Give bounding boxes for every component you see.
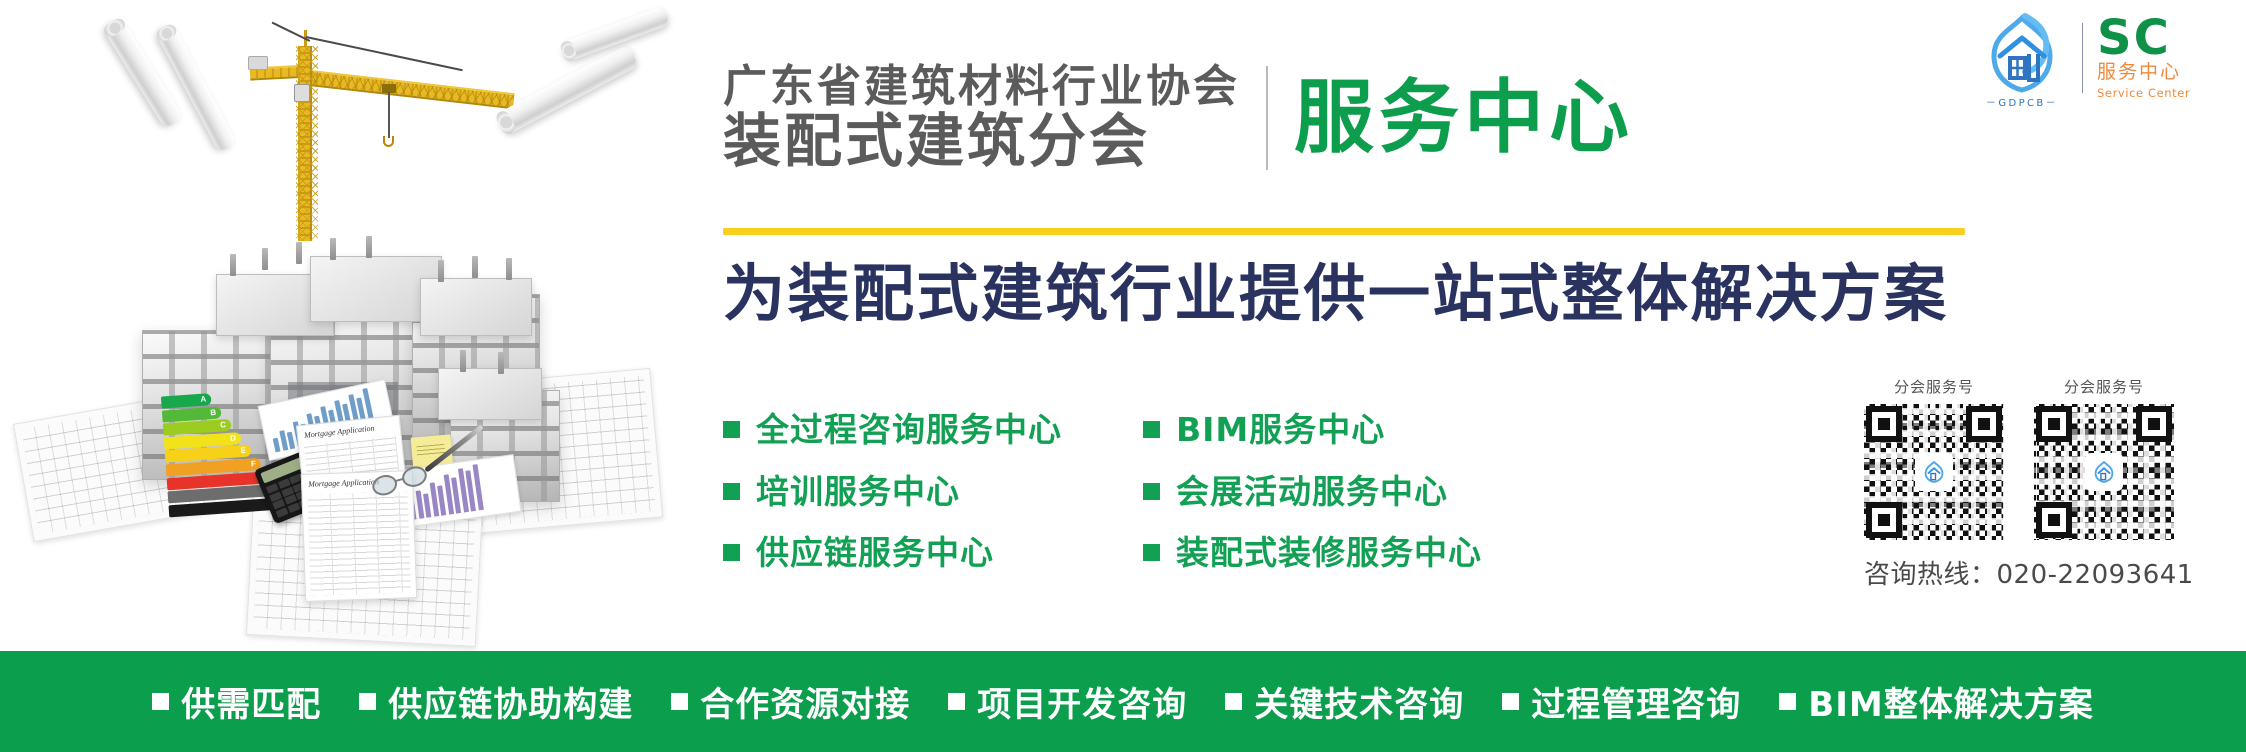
square-bullet-icon (948, 693, 965, 710)
sc-service-center-logo: －GDPCB－ SC 服务中心 Service Center (1976, 8, 2228, 108)
rebar-column (460, 350, 466, 372)
service-center-heading: 服务中心 (1294, 78, 1634, 158)
crane-mast (298, 46, 312, 241)
footer-item-7[interactable]: BIM整体解决方案 (1779, 677, 2093, 726)
crane-jib (309, 70, 514, 109)
qr-code-image[interactable] (2034, 404, 2174, 540)
square-bullet-icon (671, 693, 688, 710)
construction-illustration: A B C D E F G H I Mortg (0, 0, 700, 660)
gdpcb-caption: －GDPCB－ (1976, 94, 2068, 109)
header-block: 广东省建筑材料行业协会 装配式建筑分会 服务中心 (723, 40, 1973, 195)
association-line-2: 装配式建筑分会 (723, 111, 1240, 172)
service-item-4[interactable]: 会展活动服务中心 (1143, 472, 1563, 512)
square-bullet-icon (359, 693, 376, 710)
header-vertical-divider (1266, 66, 1268, 170)
qr-finder-pattern (1866, 406, 1902, 442)
qr-finder-pattern (1966, 406, 2002, 442)
qr-caption: 分会服务号 (1864, 376, 2004, 397)
document-title: Mortgage Application (304, 424, 375, 440)
document-title: Mortgage Application (308, 477, 379, 488)
tagline: 为装配式建筑行业提供一站式整体解决方案 (723, 258, 2023, 329)
square-bullet-icon (152, 693, 169, 710)
footer-item-label: 项目开发咨询 (977, 677, 1187, 726)
footer-item-2[interactable]: 供应链协助构建 (359, 677, 633, 726)
footer-item-label: 关键技术咨询 (1254, 677, 1464, 726)
service-item-2[interactable]: BIM服务中心 (1143, 410, 1563, 450)
hotline-text: 咨询热线：020-22093641 (1864, 554, 2234, 591)
square-bullet-icon (1143, 421, 1160, 438)
qr-finder-pattern (2136, 406, 2172, 442)
tower-crane (232, 28, 562, 248)
square-bullet-icon (723, 421, 740, 438)
qr-item-1: 分会服务号 (1864, 376, 2004, 540)
logo-en-label: Service Center (2097, 86, 2190, 100)
association-name-block: 广东省建筑材料行业协会 装配式建筑分会 (723, 63, 1240, 171)
crane-tie-cable (306, 36, 463, 71)
service-item-label: 全过程咨询服务中心 (756, 410, 1062, 450)
footer-item-label: 合作资源对接 (700, 677, 910, 726)
qr-row: 分会服务号 分会服务号 (1864, 376, 2234, 540)
energy-bar: A (161, 393, 212, 408)
footer-item-1[interactable]: 供需匹配 (152, 677, 321, 726)
square-bullet-icon (1143, 483, 1160, 500)
gold-divider-rule (723, 228, 1965, 235)
footer-item-label: 过程管理咨询 (1531, 677, 1741, 726)
rebar-column (506, 258, 512, 280)
footer-item-5[interactable]: 关键技术咨询 (1225, 677, 1464, 726)
document-form-rows (308, 491, 411, 595)
square-bullet-icon (723, 483, 740, 500)
footer-services-bar: 供需匹配 供应链协助构建 合作资源对接 项目开发咨询 关键技术咨询 过程管理咨询… (0, 651, 2246, 752)
service-item-1[interactable]: 全过程咨询服务中心 (723, 410, 1143, 450)
logo-text-block: SC 服务中心 Service Center (2097, 16, 2190, 100)
crane-hoist-line (388, 92, 390, 138)
qr-finder-pattern (1866, 502, 1902, 538)
service-item-5[interactable]: 供应链服务中心 (723, 533, 1143, 573)
qr-finder-pattern (2036, 406, 2072, 442)
square-bullet-icon (1143, 544, 1160, 561)
service-item-label: 培训服务中心 (756, 472, 960, 512)
service-item-6[interactable]: 装配式装修服务中心 (1143, 533, 1563, 573)
qr-center-logo-icon (1917, 455, 1951, 489)
footer-item-label: 供应链协助构建 (388, 677, 633, 726)
rebar-column (438, 260, 444, 282)
roof-slab (420, 278, 532, 336)
logo-cn-label: 服务中心 (2097, 62, 2181, 85)
qr-center-logo-icon (2087, 455, 2121, 489)
service-item-label: 会展活动服务中心 (1176, 472, 1448, 512)
logo-sc-abbr: SC (2097, 16, 2171, 62)
crane-hook (383, 136, 394, 147)
rebar-column (498, 352, 504, 374)
logo-divider (2082, 23, 2083, 93)
footer-item-4[interactable]: 项目开发咨询 (948, 677, 1187, 726)
square-bullet-icon (1225, 693, 1242, 710)
footer-item-6[interactable]: 过程管理咨询 (1502, 677, 1741, 726)
service-item-label: BIM服务中心 (1176, 410, 1385, 450)
qr-finder-pattern (2036, 502, 2072, 538)
service-item-3[interactable]: 培训服务中心 (723, 472, 1143, 512)
service-center-list: 全过程咨询服务中心 BIM服务中心 培训服务中心 会展活动服务中心 供应链服务中… (723, 410, 1803, 573)
roof-slab (438, 368, 542, 420)
promo-banner: A B C D E F G H I Mortg (0, 0, 2246, 752)
footer-item-label: 供需匹配 (181, 677, 321, 726)
gdpcb-house-flame-icon: －GDPCB－ (1976, 10, 2068, 106)
rebar-column (262, 248, 268, 270)
association-line-1: 广东省建筑材料行业协会 (723, 63, 1240, 111)
footer-item-label: BIM整体解决方案 (1808, 677, 2093, 726)
square-bullet-icon (1502, 693, 1519, 710)
service-item-label: 装配式装修服务中心 (1176, 533, 1482, 573)
qr-contact-block: 分会服务号 分会服务号 (1864, 376, 2234, 591)
rebar-column (472, 256, 478, 278)
crane-operator-cabin (294, 84, 310, 102)
rebar-column (230, 254, 236, 276)
square-bullet-icon (1779, 693, 1796, 710)
crane-counterweight (248, 56, 268, 70)
qr-item-2: 分会服务号 (2034, 376, 2174, 540)
service-item-label: 供应链服务中心 (756, 533, 994, 573)
square-bullet-icon (723, 544, 740, 561)
footer-item-3[interactable]: 合作资源对接 (671, 677, 910, 726)
qr-code-image[interactable] (1864, 404, 2004, 540)
qr-caption: 分会服务号 (2034, 376, 2174, 397)
